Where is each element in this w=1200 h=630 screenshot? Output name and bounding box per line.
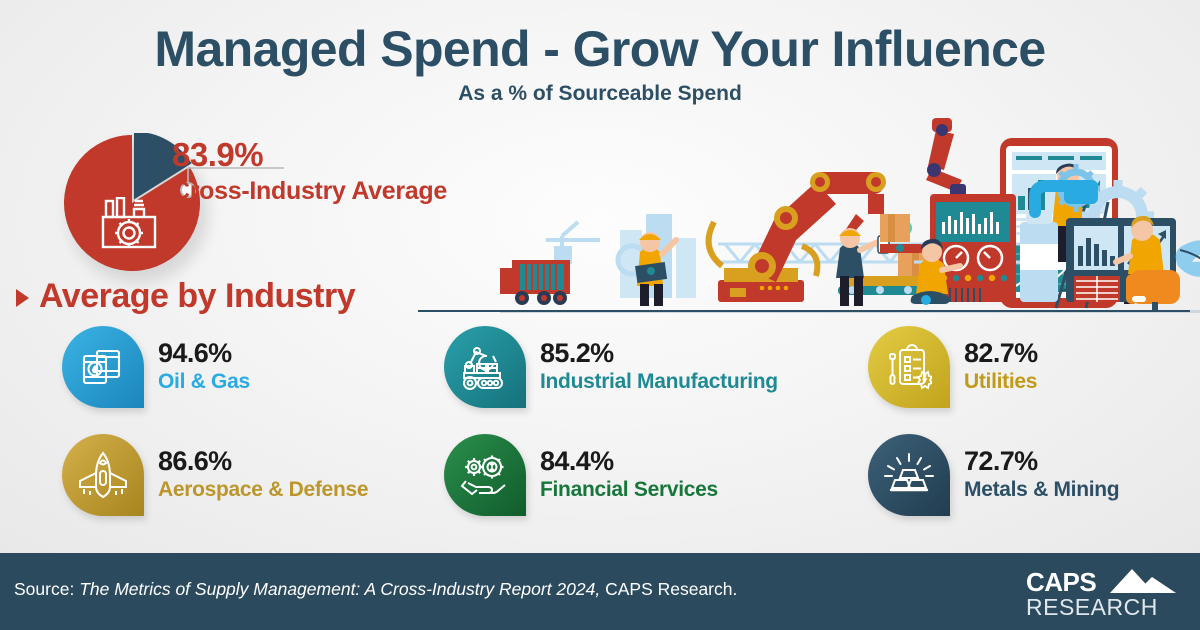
triangle-right-icon — [16, 289, 29, 307]
space-shuttle-icon — [77, 451, 129, 499]
industry-text: 72.7% Metals & Mining — [964, 447, 1119, 503]
industry-value: 82.7% — [964, 339, 1038, 367]
industry-name: Oil & Gas — [158, 369, 250, 395]
industry-value: 85.2% — [540, 339, 778, 367]
industry-item-metals-mining: 72.7% Metals & Mining — [868, 434, 1119, 516]
industry-badge — [62, 326, 144, 408]
clipboard-tools-icon — [886, 344, 932, 390]
industry-name: Utilities — [964, 369, 1038, 395]
infographic-canvas: Managed Spend - Grow Your Influence As a… — [0, 0, 1200, 630]
logo-line2: RESEARCH — [1026, 594, 1158, 619]
gold-bars-icon — [883, 452, 935, 498]
industry-row-2: 86.6% Aerospace & Defense — [0, 434, 1200, 542]
source-prefix: Source: — [14, 579, 79, 599]
industry-item-aerospace-defense: 86.6% Aerospace & Defense — [62, 434, 368, 516]
caps-research-logo[interactable]: CAPS RESEARCH — [1026, 567, 1186, 619]
industry-value: 72.7% — [964, 447, 1119, 475]
footer-bar: Source: The Metrics of Supply Management… — [0, 553, 1200, 630]
cross-industry-average-value: 83.9% — [172, 136, 263, 174]
average-by-industry-label: Average by Industry — [39, 277, 355, 316]
industry-item-utilities: 82.7% Utilities — [868, 326, 1038, 408]
source-report-title: The Metrics of Supply Management: A Cros… — [79, 579, 600, 599]
industry-value: 84.4% — [540, 447, 718, 475]
industry-text: 82.7% Utilities — [964, 339, 1038, 395]
industry-item-oil-gas: 94.6% Oil & Gas — [62, 326, 250, 408]
oil-barrel-icon — [79, 345, 127, 389]
industry-name: Metals & Mining — [964, 477, 1119, 503]
industry-text: 84.4% Financial Services — [540, 447, 718, 503]
source-citation: Source: The Metrics of Supply Management… — [14, 579, 737, 600]
section-divider — [418, 310, 1190, 312]
industry-name: Aerospace & Defense — [158, 477, 368, 503]
factory-icon — [100, 197, 168, 253]
industry-name: Industrial Manufacturing — [540, 369, 778, 395]
source-suffix: CAPS Research. — [600, 579, 737, 599]
industry-value: 86.6% — [158, 447, 368, 475]
industry-text: 86.6% Aerospace & Defense — [158, 447, 368, 503]
industry-value: 94.6% — [158, 339, 250, 367]
industry-text: 94.6% Oil & Gas — [158, 339, 250, 395]
industry-grid: 94.6% Oil & Gas — [0, 326, 1200, 542]
industry-badge — [444, 326, 526, 408]
page-title: Managed Spend - Grow Your Influence — [0, 20, 1200, 78]
page-subtitle: As a % of Sourceable Spend — [0, 82, 1200, 106]
logo-line1: CAPS — [1026, 567, 1096, 597]
industry-badge — [62, 434, 144, 516]
hand-gears-dollar-icon — [460, 453, 510, 497]
robot-arm-conveyor-icon — [460, 344, 510, 390]
average-by-industry-heading: Average by Industry — [16, 277, 355, 316]
industry-badge — [868, 434, 950, 516]
industry-item-financial-services: 84.4% Financial Services — [444, 434, 718, 516]
cross-industry-average-label: Cross-Industry Average — [172, 177, 447, 206]
industry-badge — [444, 434, 526, 516]
industry-badge — [868, 326, 950, 408]
industry-text: 85.2% Industrial Manufacturing — [540, 339, 778, 395]
factory-automation-illustration — [500, 118, 1200, 313]
industry-item-industrial-manufacturing: 85.2% Industrial Manufacturing — [444, 326, 778, 408]
industry-row-1: 94.6% Oil & Gas — [0, 326, 1200, 434]
industry-name: Financial Services — [540, 477, 718, 503]
